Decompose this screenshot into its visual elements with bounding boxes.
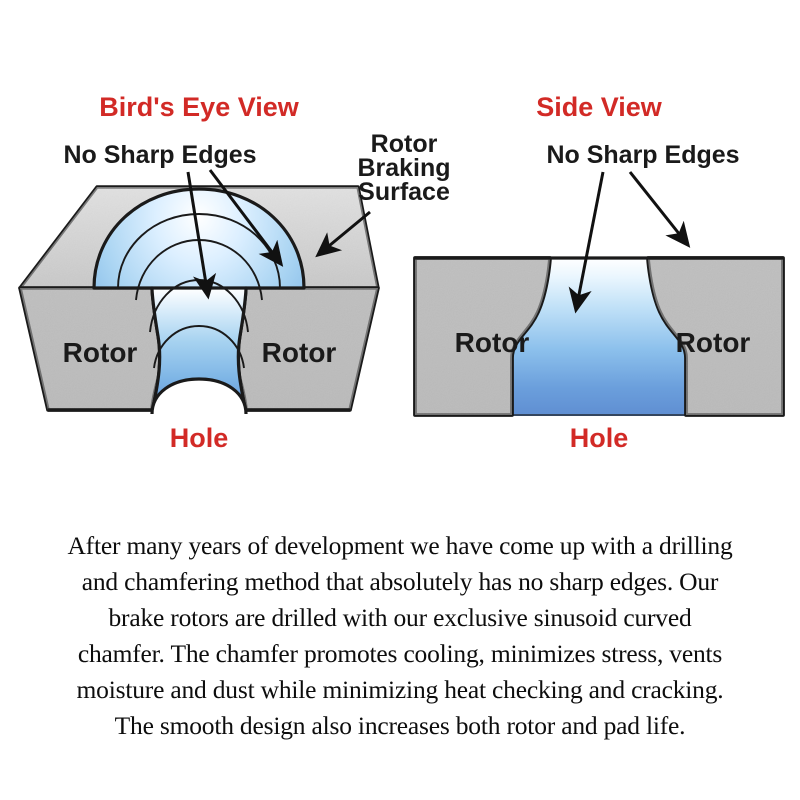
paragraph-line: chamfer. The chamfer promotes cooling, m… <box>8 636 792 672</box>
left-no-sharp-edges-label: No Sharp Edges <box>63 141 256 169</box>
figure-side-view: Side View No Sharp Edges Rotor Rotor Hol… <box>415 92 783 453</box>
paragraph-line: brake rotors are drilled with our exclus… <box>8 600 792 636</box>
side-rotor-label-left: Rotor <box>455 327 530 358</box>
side-view-title: Side View <box>536 92 663 122</box>
left-hole-label: Hole <box>170 423 229 453</box>
paragraph-line: moisture and dust while minimizing heat … <box>8 672 792 708</box>
rotor-braking-surface-line-3: Surface <box>358 178 450 206</box>
figure-birds-eye-view: Bird's Eye View No Sharp Edges Rotor Bra… <box>20 92 451 453</box>
left-rotor-label-left: Rotor <box>63 337 138 368</box>
paragraph-line: After many years of development we have … <box>8 528 792 564</box>
left-rotor-label-right: Rotor <box>262 337 337 368</box>
description-paragraph: After many years of development we have … <box>8 528 792 744</box>
side-rotor-label-right: Rotor <box>676 327 751 358</box>
paragraph-line: and chamfering method that absolutely ha… <box>8 564 792 600</box>
birds-eye-view-title: Bird's Eye View <box>99 92 300 122</box>
right-no-sharp-edges-label: No Sharp Edges <box>546 141 739 169</box>
right-hole-label: Hole <box>570 423 629 453</box>
right-arrow-to-right-chamfer <box>630 172 688 245</box>
paragraph-line: The smooth design also increases both ro… <box>8 708 792 744</box>
page-root: Bird's Eye View No Sharp Edges Rotor Bra… <box>0 0 800 800</box>
